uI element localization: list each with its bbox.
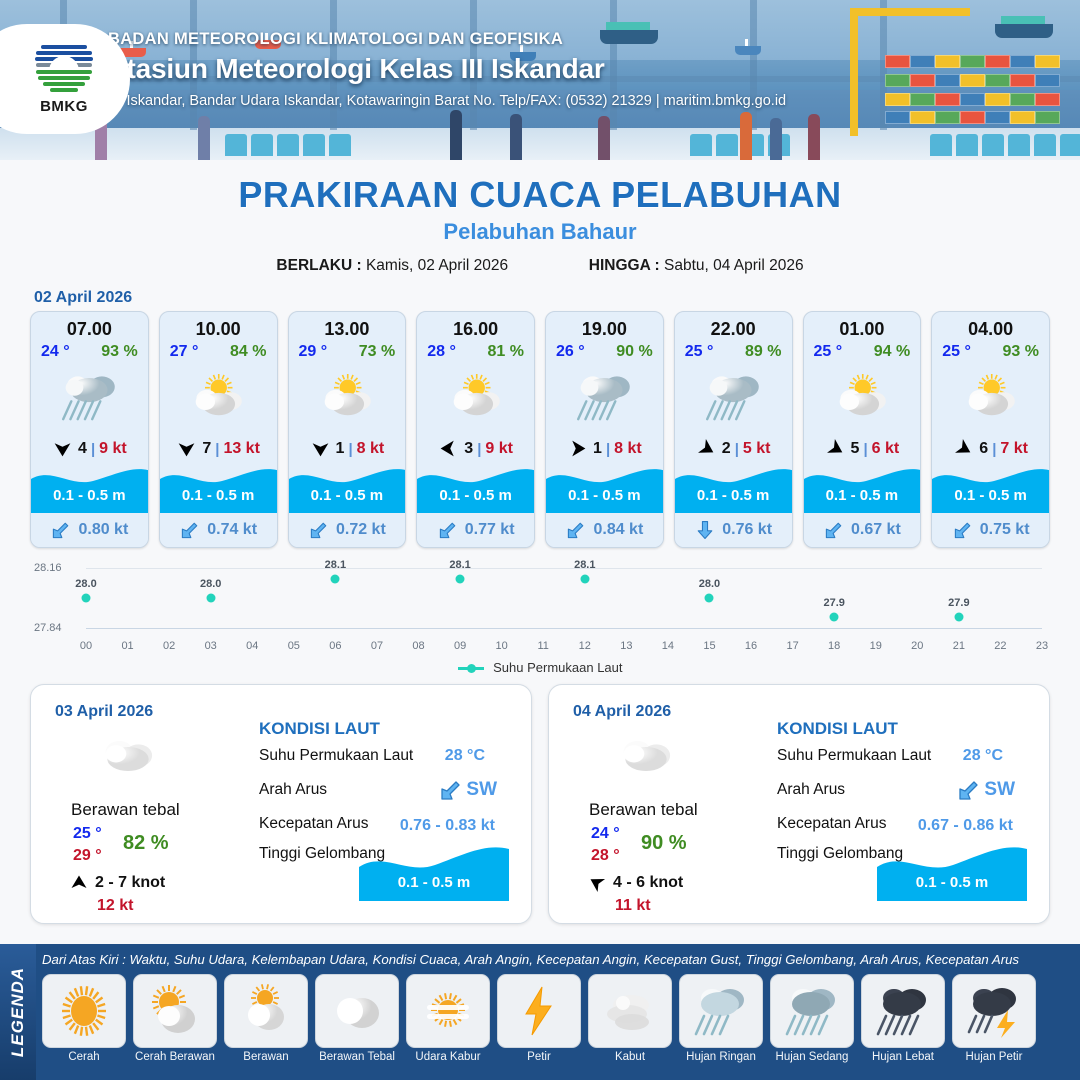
legend-items: Cerah Cerah Berawan Berawan Berawan Teba…: [42, 974, 1076, 1063]
forecast-cards: 07.00 24 ° 93 % 4 | 9 kt 0.1 - 0.5 m 0.8…: [0, 311, 1080, 548]
panel-temp-min: 25 °: [73, 825, 102, 843]
partly-cloudy-icon: [932, 361, 1049, 433]
legend-item[interactable]: Udara Kabur: [406, 974, 490, 1063]
valid-until-value: Sabtu, 04 April 2026: [664, 257, 804, 274]
arrow-down-3d-icon: [694, 519, 716, 541]
card-wave-height: 0.1 - 0.5 m: [31, 487, 148, 504]
chart-data-point: [456, 575, 465, 584]
sea-wave-height-value: 0.1 - 0.5 m: [359, 874, 509, 891]
legend-item-label: Petir: [497, 1051, 581, 1063]
chart-xtick: 12: [579, 640, 591, 652]
chart-point-label: 28.0: [75, 578, 96, 590]
card-humidity: 93 %: [1003, 343, 1039, 361]
sea-sst-value: 28 °C: [963, 747, 1003, 765]
cloud-thick-icon: [315, 974, 399, 1048]
chart-data-point: [206, 594, 215, 603]
chart-point-label: 28.0: [200, 578, 221, 590]
legend-item[interactable]: Hujan Sedang: [770, 974, 854, 1063]
sea-row-label: Kecepatan Arus: [777, 815, 886, 833]
chart-legend: Suhu Permukaan Laut: [26, 660, 1054, 675]
chart-ytick: 28.16: [34, 562, 62, 574]
person-decor: [510, 114, 522, 160]
chart-plot-area: 28.1627.84000102030405060708091011121314…: [86, 568, 1042, 630]
heavy-rain-icon: [861, 974, 945, 1048]
legend-item[interactable]: Kabut: [588, 974, 672, 1063]
legend-item-label: Hujan Petir: [952, 1051, 1036, 1063]
arrow-southwest-3d-icon: [565, 519, 587, 541]
panel-wave-box: 0.1 - 0.5 m: [359, 845, 509, 901]
card-wind-speed: 6: [979, 440, 988, 458]
legend-item[interactable]: Cerah Berawan: [133, 974, 217, 1063]
card-wave: 0.1 - 0.5 m: [289, 465, 406, 513]
arrow-southwest-3d-icon: [437, 519, 459, 541]
card-current: 0.67 kt: [804, 513, 921, 547]
sea-current-dir-value: SW: [984, 779, 1015, 801]
partly-cloudy-icon: [417, 361, 534, 433]
card-time: 22.00: [675, 312, 792, 340]
card-wave: 0.1 - 0.5 m: [160, 465, 277, 513]
legend-item[interactable]: Berawan: [224, 974, 308, 1063]
forecast-card[interactable]: 22.00 25 ° 89 % 2 | 5 kt 0.1 - 0.5 m 0.7…: [674, 311, 793, 548]
card-gust: 7 kt: [1000, 440, 1028, 458]
card-current-speed: 0.75 kt: [980, 521, 1030, 539]
card-temperature: 25 °: [814, 343, 843, 361]
panel-condition: Berawan tebal: [589, 800, 698, 820]
card-gust: 5 kt: [743, 440, 771, 458]
page-title: PRAKIRAAN CUACA PELABUHAN: [0, 174, 1080, 216]
legend-item-label: Cerah: [42, 1051, 126, 1063]
card-temperature: 26 °: [556, 343, 585, 361]
chart-xtick: 18: [828, 640, 840, 652]
panel-temp-max: 28 °: [591, 847, 620, 865]
panel-wind-range: 4 - 6 knot: [613, 874, 683, 892]
cloud-sun-small-icon: [224, 974, 308, 1048]
cloudy-icon: [615, 733, 677, 776]
panel-temp-max: 29 °: [73, 847, 102, 865]
card-separator: |: [992, 441, 996, 458]
legend-item-label: Berawan Tebal: [315, 1051, 399, 1063]
card-current-speed: 0.84 kt: [593, 521, 643, 539]
arrow-down-icon: [176, 438, 198, 460]
card-current-speed: 0.72 kt: [336, 521, 386, 539]
card-wind-speed: 1: [336, 440, 345, 458]
bmkg-logo: BMKG: [0, 24, 130, 134]
panel-wind-row: 4 - 6 knot: [587, 873, 683, 893]
chart-xtick: 23: [1036, 640, 1048, 652]
arrow-northeast-icon: [587, 873, 607, 893]
rain-icon: [31, 361, 148, 433]
sun-cloud-icon: [133, 974, 217, 1048]
rain-icon: [675, 361, 792, 433]
forecast-card[interactable]: 10.00 27 ° 84 % 7 | 13 kt 0.1 - 0.5 m 0.…: [159, 311, 278, 548]
panel-wind-row: 2 - 7 knot: [69, 873, 165, 893]
cloudy-icon: [97, 733, 159, 776]
sea-row-label: Suhu Permukaan Laut: [777, 747, 931, 765]
card-temperature: 27 °: [170, 343, 199, 361]
legend-item[interactable]: Cerah: [42, 974, 126, 1063]
bmkg-logo-text: BMKG: [40, 98, 88, 115]
sea-row-label: Suhu Permukaan Laut: [259, 747, 413, 765]
header-text-block: BADAN METEOROLOGI KLIMATOLOGI DAN GEOFIS…: [108, 30, 786, 109]
valid-from-value: Kamis, 02 April 2026: [366, 257, 508, 274]
legend-item[interactable]: Petir: [497, 974, 581, 1063]
panel-humidity: 90 %: [641, 832, 687, 855]
card-time: 10.00: [160, 312, 277, 340]
header-station-name: Stasiun Meteorologi Kelas III Iskandar: [108, 53, 786, 85]
legend-item-label: Udara Kabur: [406, 1051, 490, 1063]
sea-sst-value: 28 °C: [445, 747, 485, 765]
card-current-speed: 0.76 kt: [722, 521, 772, 539]
chart-data-point: [331, 575, 340, 584]
wave-shape-icon: [359, 845, 509, 901]
chart-legend-label: Suhu Permukaan Laut: [493, 660, 622, 675]
thunderstorm-icon: [952, 974, 1036, 1048]
sea-row-label: Arah Arus: [777, 781, 845, 799]
legend-item-label: Kabut: [588, 1051, 672, 1063]
arrow-southwest-3d-icon: [308, 519, 330, 541]
sea-current-speed-value: 0.76 - 0.83 kt: [400, 817, 495, 835]
panel-condition: Berawan tebal: [71, 800, 180, 820]
partly-cloudy-icon: [160, 361, 277, 433]
panel-humidity: 82 %: [123, 832, 169, 855]
card-temperature: 29 °: [299, 343, 328, 361]
chart-data-point: [82, 594, 91, 603]
daily-panels: 03 April 2026 Berawan tebal 25 ° 29 ° 82…: [0, 684, 1080, 924]
chart-legend-marker: [458, 667, 484, 670]
arrow-northeast-icon: [953, 438, 975, 460]
card-wave-height: 0.1 - 0.5 m: [160, 487, 277, 504]
wave-shape-icon: [877, 845, 1027, 901]
card-wind-speed: 4: [78, 440, 87, 458]
panel-wave-box: 0.1 - 0.5 m: [877, 845, 1027, 901]
card-wave-height: 0.1 - 0.5 m: [804, 487, 921, 504]
card-current: 0.80 kt: [31, 513, 148, 547]
arrow-northeast-icon: [696, 438, 718, 460]
sea-current-speed-value: 0.67 - 0.86 kt: [918, 817, 1013, 835]
chart-point-label: 28.0: [699, 578, 720, 590]
arrow-southwest-3d-icon: [50, 519, 72, 541]
card-wave-height: 0.1 - 0.5 m: [417, 487, 534, 504]
legend-item[interactable]: Hujan Lebat: [861, 974, 945, 1063]
card-time: 19.00: [546, 312, 663, 340]
card-wind-speed: 5: [851, 440, 860, 458]
card-time: 01.00: [804, 312, 921, 340]
chart-xtick: 21: [953, 640, 965, 652]
chart-xtick: 08: [412, 640, 424, 652]
card-current-speed: 0.80 kt: [78, 521, 128, 539]
legend-side-label: LEGENDA: [0, 944, 36, 1080]
partly-cloudy-icon: [804, 361, 921, 433]
valid-from-label: BERLAKU :: [276, 257, 361, 274]
daily-panel[interactable]: 04 April 2026 Berawan tebal 24 ° 28 ° 90…: [548, 684, 1050, 924]
header-address: Jl. Iskandar, Bandar Udara Iskandar, Kot…: [108, 93, 786, 109]
chart-xtick: 00: [80, 640, 92, 652]
daily-panel[interactable]: 03 April 2026 Berawan tebal 25 ° 29 ° 82…: [30, 684, 532, 924]
card-gust: 13 kt: [223, 440, 259, 458]
validity-row: BERLAKU : Kamis, 02 April 2026 HINGGA : …: [0, 257, 1080, 275]
card-humidity: 81 %: [488, 343, 524, 361]
forecast-card[interactable]: 13.00 29 ° 73 % 1 | 8 kt 0.1 - 0.5 m 0.7…: [288, 311, 407, 548]
chart-xtick: 15: [703, 640, 715, 652]
legend-item[interactable]: Berawan Tebal: [315, 974, 399, 1063]
person-decor: [770, 118, 782, 160]
card-wave-height: 0.1 - 0.5 m: [932, 487, 1049, 504]
card-gust: 9 kt: [485, 440, 513, 458]
card-wave: 0.1 - 0.5 m: [546, 465, 663, 513]
arrow-north-icon: [69, 873, 89, 893]
card-temperature: 25 °: [685, 343, 714, 361]
chart-xtick: 13: [620, 640, 632, 652]
chart-xtick: 09: [454, 640, 466, 652]
person-decor: [198, 116, 210, 160]
chart-xtick: 01: [121, 640, 133, 652]
card-wind-speed: 3: [464, 440, 473, 458]
card-separator: |: [215, 441, 219, 458]
chart-data-point: [580, 575, 589, 584]
fog-icon: [588, 974, 672, 1048]
card-current: 0.74 kt: [160, 513, 277, 547]
card-wave: 0.1 - 0.5 m: [31, 465, 148, 513]
panel-date: 03 April 2026: [55, 703, 153, 721]
legend-item-label: Cerah Berawan: [133, 1051, 217, 1063]
card-separator: |: [477, 441, 481, 458]
chart-xtick: 22: [994, 640, 1006, 652]
card-separator: |: [735, 441, 739, 458]
person-decor: [808, 114, 820, 160]
card-current: 0.77 kt: [417, 513, 534, 547]
chart-xtick: 11: [537, 640, 548, 652]
header-floor-decor: [0, 128, 1080, 160]
chart-xtick: 16: [745, 640, 757, 652]
card-wind-speed: 7: [202, 440, 211, 458]
light-rain-icon: [679, 974, 763, 1048]
card-separator: |: [606, 441, 610, 458]
arrow-down-icon: [52, 438, 74, 460]
moderate-rain-icon: [770, 974, 854, 1048]
person-decor: [598, 116, 610, 160]
legend-bar: LEGENDA Dari Atas Kiri : Waktu, Suhu Uda…: [0, 944, 1080, 1080]
panel-sea-title: KONDISI LAUT: [777, 719, 898, 739]
arrow-right-icon: [567, 438, 589, 460]
card-current: 0.76 kt: [675, 513, 792, 547]
card-wave: 0.1 - 0.5 m: [675, 465, 792, 513]
chart-point-label: 27.9: [823, 597, 844, 609]
card-wind-speed: 1: [593, 440, 602, 458]
bmkg-logo-icon: [35, 43, 93, 95]
card-current: 0.84 kt: [546, 513, 663, 547]
arrow-northeast-icon: [825, 438, 847, 460]
card-humidity: 94 %: [874, 343, 910, 361]
card-wave-height: 0.1 - 0.5 m: [546, 487, 663, 504]
lightning-icon: [497, 974, 581, 1048]
chart-xtick: 17: [786, 640, 798, 652]
sea-current-dir-value: SW: [466, 779, 497, 801]
card-wave-height: 0.1 - 0.5 m: [289, 487, 406, 504]
sst-chart: 28.1627.84000102030405060708091011121314…: [26, 560, 1054, 680]
chart-xtick: 19: [870, 640, 882, 652]
chart-xtick: 02: [163, 640, 175, 652]
partly-cloudy-icon: [289, 361, 406, 433]
chart-point-label: 28.1: [449, 559, 470, 571]
card-time: 16.00: [417, 312, 534, 340]
haze-icon: [406, 974, 490, 1048]
legend-item[interactable]: Hujan Ringan: [679, 974, 763, 1063]
page-subtitle: Pelabuhan Bahaur: [0, 219, 1080, 245]
chart-xtick: 20: [911, 640, 923, 652]
chart-point-label: 28.1: [325, 559, 346, 571]
card-wind-speed: 2: [722, 440, 731, 458]
legend-item[interactable]: Hujan Petir: [952, 974, 1036, 1063]
arrow-southwest-3d-icon: [438, 777, 464, 803]
seats-decor: [930, 134, 1080, 156]
card-gust: 8 kt: [614, 440, 642, 458]
chart-xtick: 07: [371, 640, 383, 652]
card-current: 0.72 kt: [289, 513, 406, 547]
forecast-card[interactable]: 07.00 24 ° 93 % 4 | 9 kt 0.1 - 0.5 m 0.8…: [30, 311, 149, 548]
card-separator: |: [348, 441, 352, 458]
card-current: 0.75 kt: [932, 513, 1049, 547]
card-wave: 0.1 - 0.5 m: [804, 465, 921, 513]
header-organization: BADAN METEOROLOGI KLIMATOLOGI DAN GEOFIS…: [108, 30, 786, 49]
forecast-date-label: 02 April 2026: [34, 289, 1080, 307]
chart-data-point: [954, 612, 963, 621]
legend-item-label: Hujan Ringan: [679, 1051, 763, 1063]
chart-point-label: 27.9: [948, 597, 969, 609]
card-humidity: 89 %: [745, 343, 781, 361]
seats-decor: [225, 134, 351, 156]
card-humidity: 93 %: [101, 343, 137, 361]
chart-xtick: 03: [205, 640, 217, 652]
sea-current-dir: SW: [438, 777, 497, 803]
title-block: PRAKIRAAN CUACA PELABUHAN Pelabuhan Baha…: [0, 174, 1080, 275]
arrow-southwest-3d-icon: [952, 519, 974, 541]
chart-ytick: 27.84: [34, 622, 62, 634]
containers-decor: [885, 55, 1060, 130]
card-time: 04.00: [932, 312, 1049, 340]
card-wave: 0.1 - 0.5 m: [417, 465, 534, 513]
sea-wave-height-value: 0.1 - 0.5 m: [877, 874, 1027, 891]
card-gust: 9 kt: [99, 440, 127, 458]
arrow-down-icon: [310, 438, 332, 460]
arrow-southwest-3d-icon: [956, 777, 982, 803]
chart-point-label: 28.1: [574, 559, 595, 571]
panel-sea-title: KONDISI LAUT: [259, 719, 380, 739]
panel-date: 04 April 2026: [573, 703, 671, 721]
legend-item-label: Berawan: [224, 1051, 308, 1063]
card-time: 13.00: [289, 312, 406, 340]
page-header: BMKG BADAN METEOROLOGI KLIMATOLOGI DAN G…: [0, 0, 1080, 160]
sea-row-label: Kecepatan Arus: [259, 815, 368, 833]
sea-row-label: Arah Arus: [259, 781, 327, 799]
card-humidity: 90 %: [616, 343, 652, 361]
sun-icon: [42, 974, 126, 1048]
card-temperature: 25 °: [942, 343, 971, 361]
person-decor: [450, 110, 462, 160]
chart-xtick: 04: [246, 640, 258, 652]
forecast-card[interactable]: 01.00 25 ° 94 % 5 | 6 kt 0.1 - 0.5 m 0.6…: [803, 311, 922, 548]
person-decor: [740, 112, 752, 160]
legend-item-label: Hujan Lebat: [861, 1051, 945, 1063]
card-temperature: 28 °: [427, 343, 456, 361]
card-gust: 6 kt: [872, 440, 900, 458]
arrow-left-icon: [438, 438, 460, 460]
forecast-card[interactable]: 04.00 25 ° 93 % 6 | 7 kt 0.1 - 0.5 m 0.7…: [931, 311, 1050, 548]
ship-decor: [995, 24, 1053, 38]
card-wave: 0.1 - 0.5 m: [932, 465, 1049, 513]
card-current-speed: 0.67 kt: [851, 521, 901, 539]
forecast-card[interactable]: 16.00 28 ° 81 % 3 | 9 kt 0.1 - 0.5 m 0.7…: [416, 311, 535, 548]
chart-xtick: 05: [288, 640, 300, 652]
arrow-southwest-3d-icon: [823, 519, 845, 541]
panel-gust: 12 kt: [97, 897, 133, 915]
chart-data-point: [705, 594, 714, 603]
card-gust: 8 kt: [357, 440, 385, 458]
card-separator: |: [863, 441, 867, 458]
card-current-speed: 0.77 kt: [465, 521, 515, 539]
legend-item-label: Hujan Sedang: [770, 1051, 854, 1063]
card-separator: |: [91, 441, 95, 458]
legend-caption: Dari Atas Kiri : Waktu, Suhu Udara, Kele…: [42, 952, 1074, 967]
forecast-card[interactable]: 19.00 26 ° 90 % 1 | 8 kt 0.1 - 0.5 m 0.8…: [545, 311, 664, 548]
arrow-southwest-3d-icon: [179, 519, 201, 541]
chart-xtick: 10: [496, 640, 508, 652]
chart-data-point: [830, 612, 839, 621]
card-humidity: 84 %: [230, 343, 266, 361]
chart-xtick: 06: [329, 640, 341, 652]
card-wave-height: 0.1 - 0.5 m: [675, 487, 792, 504]
chart-xtick: 14: [662, 640, 674, 652]
valid-until-label: HINGGA :: [589, 257, 660, 274]
panel-wind-range: 2 - 7 knot: [95, 874, 165, 892]
card-time: 07.00: [31, 312, 148, 340]
card-current-speed: 0.74 kt: [207, 521, 257, 539]
panel-temp-min: 24 °: [591, 825, 620, 843]
rain-icon: [546, 361, 663, 433]
panel-gust: 11 kt: [615, 897, 651, 915]
sea-current-dir: SW: [956, 777, 1015, 803]
card-temperature: 24 °: [41, 343, 70, 361]
card-humidity: 73 %: [359, 343, 395, 361]
